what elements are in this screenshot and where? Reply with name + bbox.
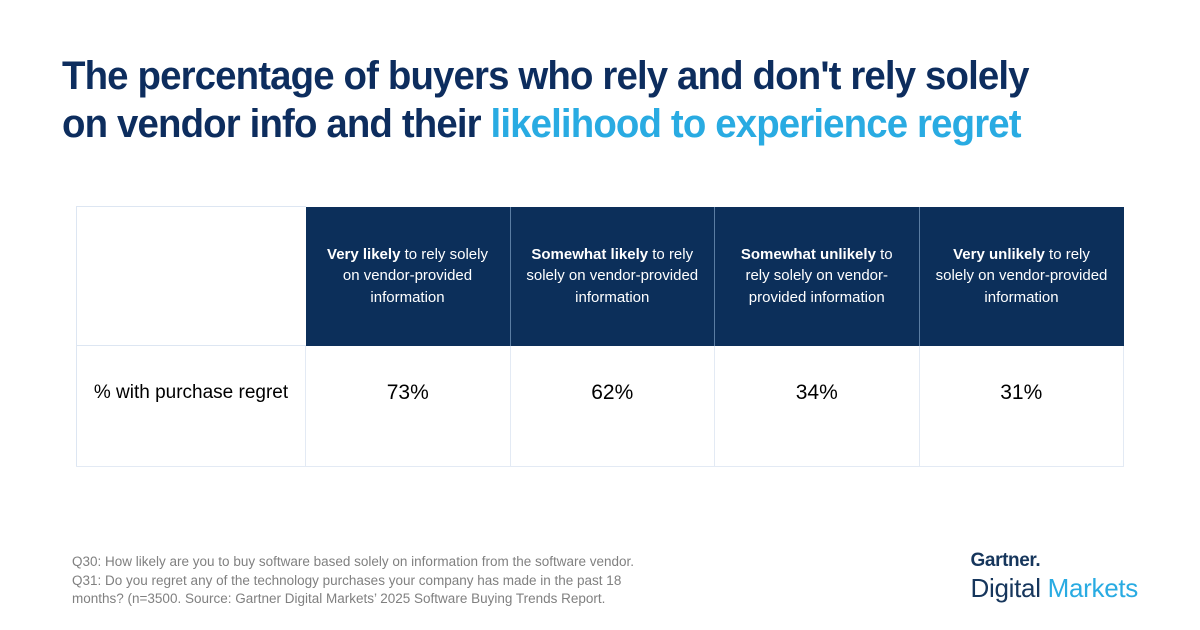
gartner-digital-markets-logo: Gartner. Digital Markets bbox=[971, 550, 1138, 603]
table-header-row: Very likely to rely solely on vendor-pro… bbox=[77, 207, 1124, 346]
cell-value-somewhat-likely: 62% bbox=[510, 346, 715, 467]
table-header-somewhat-unlikely-emphasis: Somewhat unlikely bbox=[741, 246, 876, 263]
page-title-line-1: The percentage of buyers who rely and do… bbox=[62, 52, 1099, 100]
cell-value-somewhat-unlikely-text: 34% bbox=[725, 380, 909, 406]
table-header-very-likely-emphasis: Very likely bbox=[327, 246, 400, 263]
page-title-line-2: on vendor info and their likelihood to e… bbox=[62, 100, 1099, 148]
page-title-accent: likelihood to experience regret bbox=[491, 102, 1021, 146]
table-header-very-likely: Very likely to rely solely on vendor-pro… bbox=[306, 207, 511, 346]
row-label-purchase-regret-text: % with purchase regret bbox=[87, 380, 295, 406]
table-header: Very likely to rely solely on vendor-pro… bbox=[77, 207, 1124, 346]
table-header-somewhat-likely: Somewhat likely to rely solely on vendor… bbox=[510, 207, 715, 346]
data-table-container: Very likely to rely solely on vendor-pro… bbox=[76, 206, 1123, 467]
cell-value-very-likely-text: 73% bbox=[316, 380, 500, 406]
page-title: The percentage of buyers who rely and do… bbox=[62, 52, 1142, 148]
source-footnote-line-3: months? (n=3500. Source: Gartner Digital… bbox=[72, 590, 712, 609]
cell-value-somewhat-unlikely: 34% bbox=[715, 346, 920, 467]
cell-value-somewhat-likely-text: 62% bbox=[521, 380, 705, 406]
table-header-very-unlikely: Very unlikely to rely solely on vendor-p… bbox=[919, 207, 1124, 346]
logo-digital-markets-wordmark: Digital Markets bbox=[971, 573, 1138, 603]
source-footnote-line-2: Q31: Do you regret any of the technology… bbox=[72, 572, 712, 591]
table-header-very-unlikely-emphasis: Very unlikely bbox=[953, 246, 1045, 263]
cell-value-very-unlikely: 31% bbox=[919, 346, 1124, 467]
cell-value-very-unlikely-text: 31% bbox=[930, 380, 1114, 406]
row-label-purchase-regret: % with purchase regret bbox=[77, 346, 306, 467]
table-header-corner-blank bbox=[77, 207, 306, 346]
table-body: % with purchase regret 73% 62% 34% 31% bbox=[77, 346, 1124, 467]
source-footnote-line-1: Q30: How likely are you to buy software … bbox=[72, 553, 712, 572]
logo-gartner-wordmark: Gartner. bbox=[971, 550, 1138, 572]
table-row: % with purchase regret 73% 62% 34% 31% bbox=[77, 346, 1124, 467]
table-header-somewhat-unlikely: Somewhat unlikely to rely solely on vend… bbox=[715, 207, 920, 346]
source-footnote: Q30: How likely are you to buy software … bbox=[72, 553, 712, 609]
page-title-line-2-prefix: on vendor info and their bbox=[62, 102, 491, 146]
table-header-somewhat-likely-emphasis: Somewhat likely bbox=[531, 246, 648, 263]
logo-markets-text: Markets bbox=[1041, 573, 1138, 603]
cell-value-very-likely: 73% bbox=[306, 346, 511, 467]
logo-digital-text: Digital bbox=[971, 573, 1041, 603]
regret-data-table: Very likely to rely solely on vendor-pro… bbox=[76, 206, 1124, 467]
